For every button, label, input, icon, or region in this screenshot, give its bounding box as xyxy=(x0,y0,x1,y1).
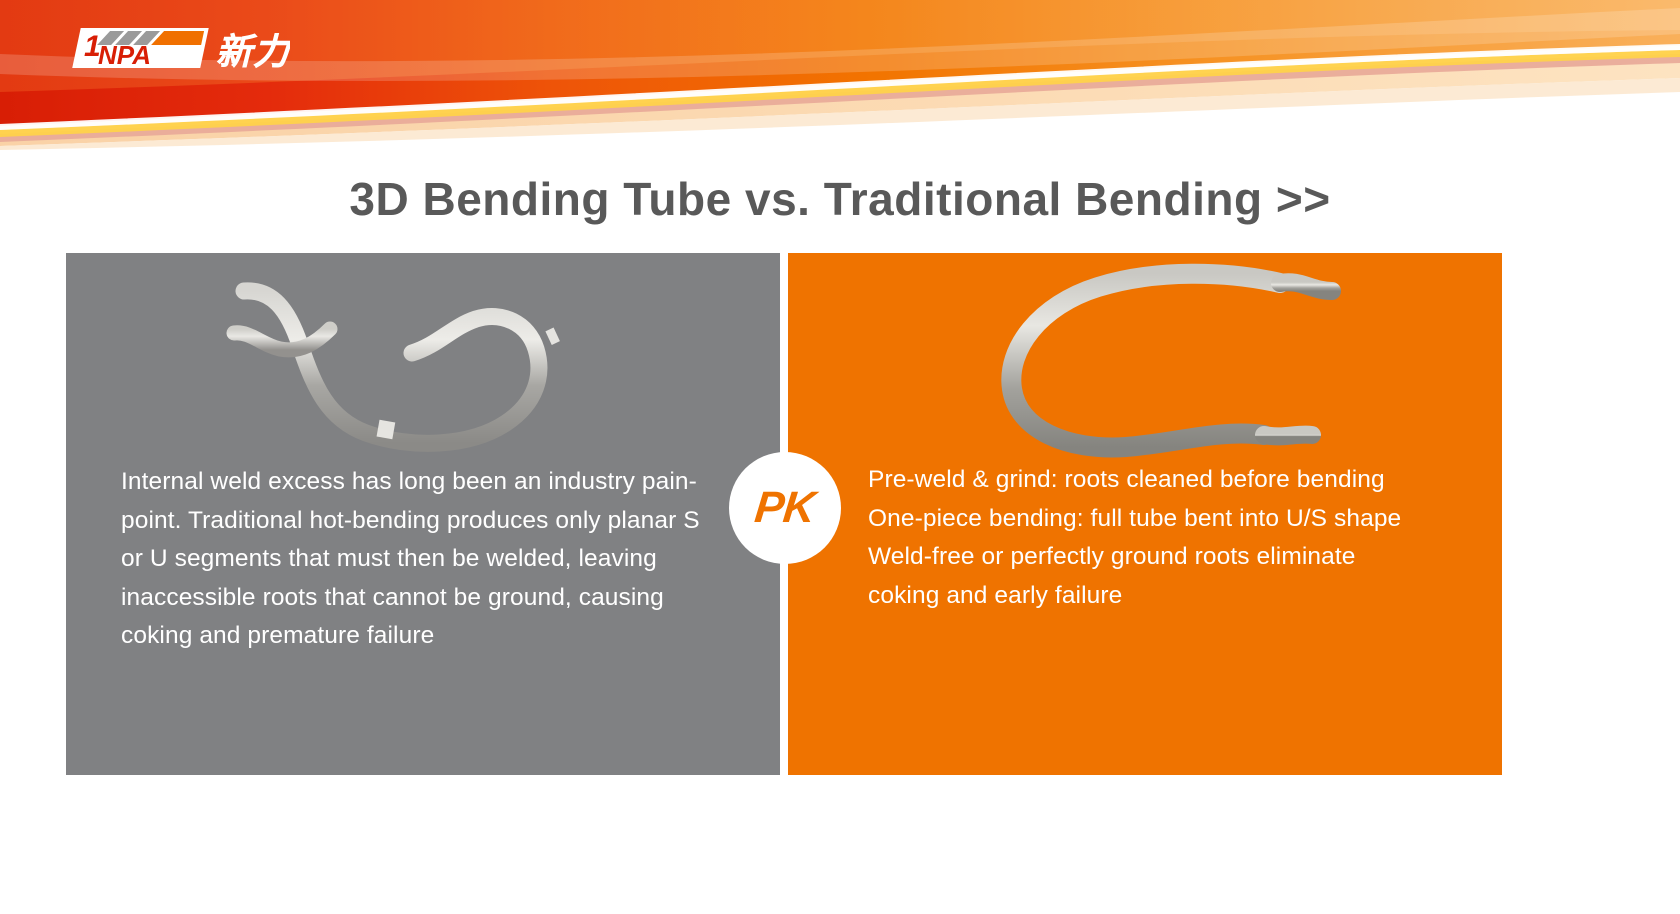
svg-text:新力通: 新力通 xyxy=(216,32,290,73)
benefit-line: One-piece bending: full tube bent into U… xyxy=(868,500,1488,539)
benefit-line: coking and early failure xyxy=(868,577,1488,616)
traditional-description: Internal weld excess has long been an in… xyxy=(121,463,719,656)
company-logo[interactable]: 1 NPA 新力通 新力通 xyxy=(68,22,290,74)
page-title: 3D Bending Tube vs. Traditional Bending … xyxy=(0,172,1680,226)
pk-badge-label: PK xyxy=(753,483,817,533)
svg-text:NPA: NPA xyxy=(98,40,151,70)
pk-versus-badge: PK xyxy=(729,452,841,564)
panel-traditional-bending: Internal weld excess has long been an in… xyxy=(66,253,780,775)
traditional-paragraph: Internal weld excess has long been an in… xyxy=(121,463,719,656)
3d-bending-description: Pre-weld & grind: roots cleaned before b… xyxy=(868,461,1488,615)
logo-mark-icon: 1 NPA 新力通 xyxy=(68,22,290,74)
3d-bent-tube-image xyxy=(788,253,1502,461)
benefit-line: Pre-weld & grind: roots cleaned before b… xyxy=(868,461,1488,500)
traditional-tube-image xyxy=(66,253,780,468)
panel-3d-bending-tube: Pre-weld & grind: roots cleaned before b… xyxy=(788,253,1502,775)
slide-root: 1 NPA 新力通 新力通 3D Bending Tube vs. Tradit… xyxy=(0,0,1680,914)
benefit-line: Weld-free or perfectly ground roots elim… xyxy=(868,538,1488,577)
